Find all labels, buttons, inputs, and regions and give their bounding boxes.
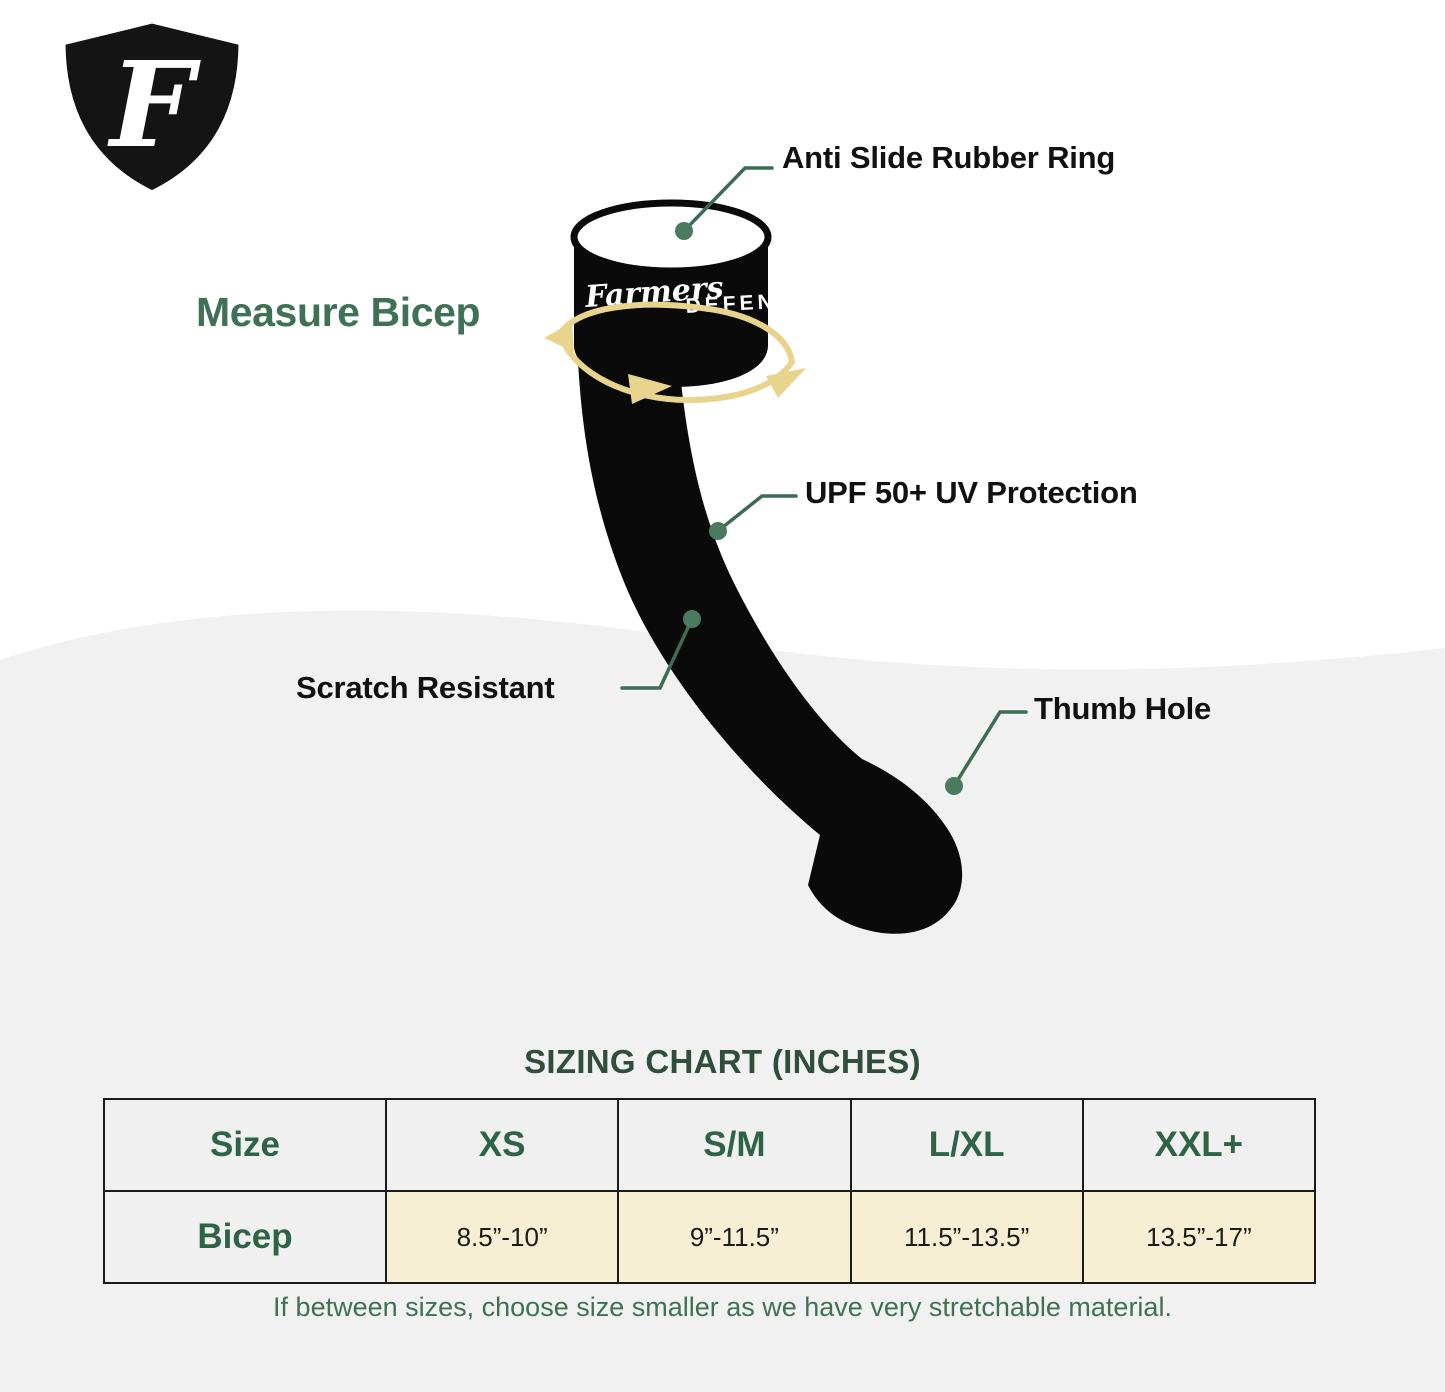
logo-letter: F xyxy=(107,35,201,174)
callout-anti-slide-rubber-ring: Anti Slide Rubber Ring xyxy=(782,140,1115,176)
table-row: Bicep 8.5”-10” 9”-11.5” 11.5”-13.5” 13.5… xyxy=(104,1191,1315,1283)
arm-sleeve-illustration: Farmers DEFENSE xyxy=(490,185,1050,945)
sizing-chart-title: SIZING CHART (INCHES) xyxy=(0,1043,1445,1081)
callout-scratch-resistant: Scratch Resistant xyxy=(296,670,554,706)
product-infographic: F Farmers DEFENSE xyxy=(0,0,1445,1392)
bicep-value-xxl: 13.5”-17” xyxy=(1083,1191,1315,1283)
header-cell-xs: XS xyxy=(386,1099,618,1191)
callout-thumb-hole: Thumb Hole xyxy=(1034,691,1211,727)
header-cell-size: Size xyxy=(104,1099,386,1191)
shield-logo-icon: F xyxy=(52,16,252,198)
circular-measure-arrow-icon xyxy=(520,300,820,430)
header-cell-xxl: XXL+ xyxy=(1083,1099,1315,1191)
table-header-row: Size XS S/M L/XL XXL+ xyxy=(104,1099,1315,1191)
callout-upf-uv-protection: UPF 50+ UV Protection xyxy=(805,475,1138,511)
cuff-opening xyxy=(574,203,768,271)
sizing-footnote: If between sizes, choose size smaller as… xyxy=(0,1292,1445,1323)
sizing-chart-table: Size XS S/M L/XL XXL+ Bicep 8.5”-10” 9”-… xyxy=(103,1098,1316,1284)
bicep-value-xs: 8.5”-10” xyxy=(386,1191,618,1283)
bicep-value-sm: 9”-11.5” xyxy=(618,1191,850,1283)
measure-bicep-label: Measure Bicep xyxy=(196,289,480,336)
header-cell-sm: S/M xyxy=(618,1099,850,1191)
row-label-bicep: Bicep xyxy=(104,1191,386,1283)
header-cell-lxl: L/XL xyxy=(851,1099,1083,1191)
bicep-value-lxl: 11.5”-13.5” xyxy=(851,1191,1083,1283)
